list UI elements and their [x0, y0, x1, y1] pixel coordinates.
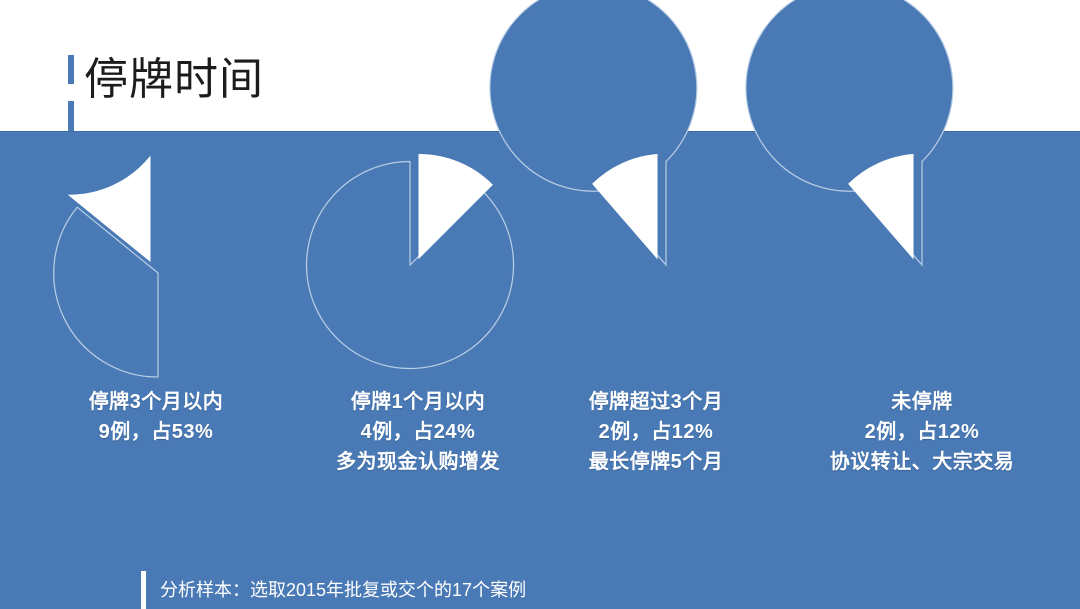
pie-chart-2	[566, 160, 786, 370]
pie-caption-3-line1: 未停牌	[782, 387, 1062, 417]
pie-chart-1-svg	[306, 160, 526, 370]
content-panel: 停牌3个月以内 9例，占53% 停牌1个月以内 4例，占24% 多为现金认购增发…	[0, 131, 1080, 609]
pie-caption-3: 未停牌 2例，占12% 协议转让、大宗交易	[782, 387, 1062, 477]
pie-chart-2-svg	[566, 160, 786, 370]
slide-canvas: 停牌时间	[0, 0, 1080, 608]
footer-note-text: 分析样本：选取2015年批复或交个的17个案例	[160, 578, 526, 602]
page-title: 停牌时间	[84, 52, 264, 108]
pie-caption-3-line3: 协议转让、大宗交易	[782, 447, 1062, 477]
pie-caption-2: 停牌超过3个月 2例，占12% 最长停牌5个月	[516, 387, 796, 477]
footer-note: 分析样本：选取2015年批复或交个的17个案例	[141, 571, 526, 609]
pie-caption-0-line2: 9例，占53%	[16, 417, 296, 447]
pie-caption-0-line1: 停牌3个月以内	[16, 387, 296, 417]
pie-chart-0-svg	[46, 160, 266, 370]
title-accent-bar-gap	[68, 84, 74, 101]
pie-caption-2-line1: 停牌超过3个月	[516, 387, 796, 417]
pie-caption-2-line2: 2例，占12%	[516, 417, 796, 447]
footer-accent-bar	[141, 571, 146, 609]
pie-caption-0: 停牌3个月以内 9例，占53%	[16, 387, 296, 447]
pie-chart-1	[306, 160, 526, 370]
pie-chart-3	[822, 160, 1042, 370]
pie-chart-row	[0, 160, 1080, 370]
pie-caption-3-line2: 2例，占12%	[782, 417, 1062, 447]
pie-chart-0	[46, 160, 266, 370]
pie-chart-3-svg	[822, 160, 1042, 370]
pie-caption-2-line3: 最长停牌5个月	[516, 447, 796, 477]
